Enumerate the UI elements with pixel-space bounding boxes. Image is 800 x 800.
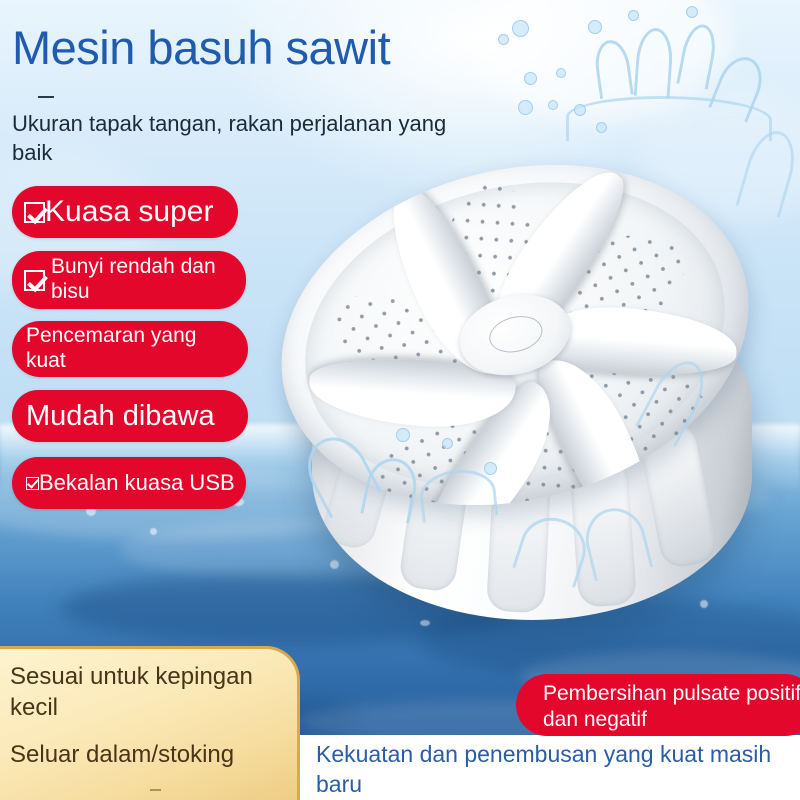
title-divider [38,96,54,98]
suitability-divider [150,789,161,791]
feature-badge-kuasa-super[interactable]: Kuasa super [12,186,238,238]
product-banner: Mesin basuh sawit Ukuran tapak tangan, r… [0,0,800,800]
page-title: Mesin basuh sawit [12,24,390,72]
feature-badge-label: Mudah dibawa [26,402,215,431]
water-droplet [498,34,509,45]
feature-badge-mudah-dibawa[interactable]: Mudah dibawa [12,390,248,442]
product-image [270,170,790,640]
water-droplet [588,20,602,34]
water-droplet [518,100,533,115]
water-droplet [548,100,558,110]
checkbox-checked-icon [24,270,45,291]
water-droplet [628,10,639,21]
page-subtitle: Ukuran tapak tangan, rakan perjalanan ya… [12,110,464,167]
suitability-line-2: Seluar dalam/stoking [10,739,290,770]
feature-badge-bekalan-kuasa-usb[interactable]: Bekalan kuasa USB [12,457,246,509]
suitability-panel: Sesuai untuk kepingan kecil Seluar dalam… [0,646,300,800]
suitability-line-1: Sesuai untuk kepingan kecil [10,661,286,723]
feature-badge-label: Kuasa super [45,197,213,227]
water-droplet [524,72,537,85]
water-droplet [556,68,566,78]
water-droplet [574,104,586,116]
feature-badge-label: Pencemaran yang kuat [26,324,238,374]
feature-badge-label: Bunyi rendah dan bisu [51,255,236,305]
water-droplet [686,6,698,18]
feature-badge-pencemaran-kuat[interactable]: Pencemaran yang kuat [12,321,248,377]
water-droplet [484,462,497,475]
pulsate-cleaning-label: Pembersihan pulsate positif dan negatif [543,682,800,731]
feature-badge-bunyi-rendah[interactable]: Bunyi rendah dan bisu [12,251,246,309]
bottom-tagline: Kekuatan dan penembusan yang kuat masih … [316,740,794,800]
water-droplet [596,122,607,133]
checkbox-checked-icon [24,202,45,223]
water-droplet [442,438,453,449]
splash-crown [566,96,772,141]
pulsate-cleaning-pill[interactable]: Pembersihan pulsate positif dan negatif [516,674,800,736]
feature-badge-label: Bekalan kuasa USB [39,472,235,494]
water-droplet [512,20,529,37]
water-droplet [396,428,410,442]
water-bubble [150,528,157,535]
checkbox-checked-icon [26,477,39,490]
